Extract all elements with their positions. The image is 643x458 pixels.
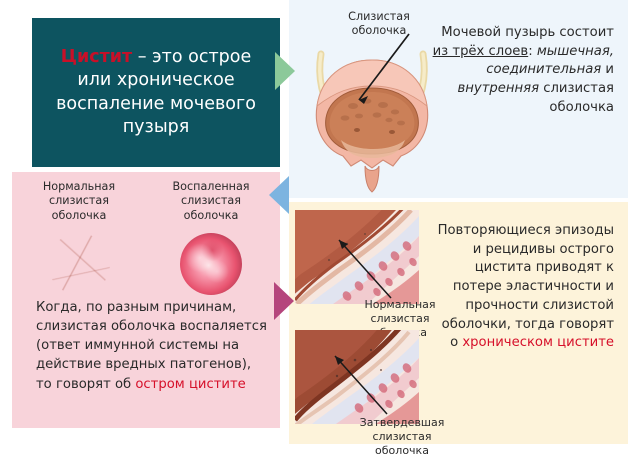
anatomy-text-underline: из трёх слоев [433, 44, 529, 59]
arrow-right-green-icon [275, 52, 295, 90]
bladder-illustration: Слизистая оболочка [297, 8, 447, 194]
arrow-right-magenta-icon [274, 282, 294, 320]
histology-normal-image [295, 210, 419, 304]
cystoscopy-highlight: остром цистите [135, 377, 245, 392]
cystoscopy-inflamed-image [180, 233, 242, 295]
cystoscopy-inflamed-caption: Воспаленная слизистая оболочка [152, 180, 270, 223]
anatomy-text-mid: и [601, 62, 614, 77]
histology-normal-svg [295, 210, 419, 304]
cystoscopy-normal-image [48, 233, 110, 295]
definition-text: Цистит – это острое или хроническое восп… [32, 46, 280, 138]
histology-hardened-svg [295, 330, 419, 424]
anatomy-description: Мочевой пузырь состоит из трёх слоев: мы… [428, 24, 614, 118]
anatomy-text-part3: слизистая оболочка [539, 81, 614, 115]
cystoscopy-normal-group: Нормальная слизистая оболочка [20, 180, 138, 295]
histology-hardened-caption: Затвердевшая слизистая оболочка [347, 416, 457, 458]
cystoscopy-normal-caption: Нормальная слизистая оболочка [20, 180, 138, 223]
anatomy-panel: Слизистая оболочка [289, 0, 628, 198]
histology-highlight: хроническом цистите [462, 335, 614, 350]
arrow-left-blue-icon [269, 176, 289, 214]
definition-highlight: Цистит [61, 47, 132, 67]
histology-body-text: Повторяющиеся эпизоды и рецидивы острого… [438, 223, 614, 350]
infographic-canvas: Цистит – это острое или хроническое восп… [0, 0, 643, 444]
cystoscopy-description: Когда, по разным причинам, слизистая обо… [36, 298, 268, 394]
bladder-illustration-label: Слизистая оболочка [331, 10, 427, 38]
cystoscopy-panel: Нормальная слизистая оболочка Воспаленна… [12, 172, 280, 428]
anatomy-text-part2: : [528, 44, 537, 59]
histology-hardened-image [295, 330, 419, 424]
definition-panel: Цистит – это острое или хроническое восп… [32, 18, 280, 167]
histology-panel: Нормальная слизистая оболочка [289, 202, 628, 444]
histology-description: Повторяющиеся эпизоды и рецидивы острого… [436, 222, 614, 353]
anatomy-text-part1: Мочевой пузырь состоит [441, 25, 614, 40]
anatomy-text-italic2: внутренняя [458, 81, 539, 96]
cystoscopy-inflamed-group: Воспаленная слизистая оболочка [152, 180, 270, 295]
